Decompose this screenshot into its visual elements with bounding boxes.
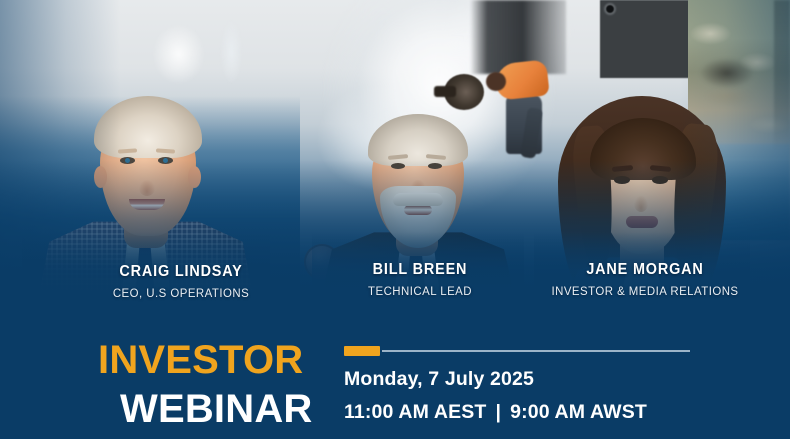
nameplate-craig-lindsay: CRAIG LINDSAY CEO, U.S OPERATIONS [36, 264, 326, 299]
event-title-line-1: INVESTOR [98, 340, 313, 380]
event-title-line-2: WEBINAR [98, 389, 313, 429]
event-time-secondary: 9:00 AM AWST [510, 401, 647, 423]
speaker-name: JANE MORGAN [519, 262, 770, 278]
event-title-block: INVESTOR WEBINAR [98, 340, 313, 429]
speaker-role: INVESTOR & MEDIA RELATIONS [519, 285, 770, 297]
event-time-primary: 11:00 AM AEST [344, 401, 486, 423]
speaker-role: CEO, U.S OPERATIONS [46, 287, 316, 299]
event-time-row: 11:00 AM AEST|9:00 AM AWST [344, 403, 647, 423]
time-separator: | [486, 401, 510, 423]
accent-dash [344, 346, 380, 356]
speaker-name: BILL BREEN [308, 262, 531, 278]
nameplate-jane-morgan: JANE MORGAN INVESTOR & MEDIA RELATIONS [510, 262, 780, 297]
investor-webinar-banner: CRAIG LINDSAY CEO, U.S OPERATIONS BILL B… [0, 0, 790, 439]
bill-hair [368, 114, 468, 166]
speaker-role: TECHNICAL LEAD [308, 285, 531, 297]
nameplate-bill-breen: BILL BREEN TECHNICAL LEAD [300, 262, 540, 297]
event-details-block: Monday, 7 July 2025 11:00 AM AEST|9:00 A… [344, 370, 647, 422]
thin-divider-line [382, 350, 690, 352]
speaker-name: CRAIG LINDSAY [46, 264, 316, 280]
event-date: Monday, 7 July 2025 [344, 370, 647, 390]
accent-rule [344, 346, 690, 356]
